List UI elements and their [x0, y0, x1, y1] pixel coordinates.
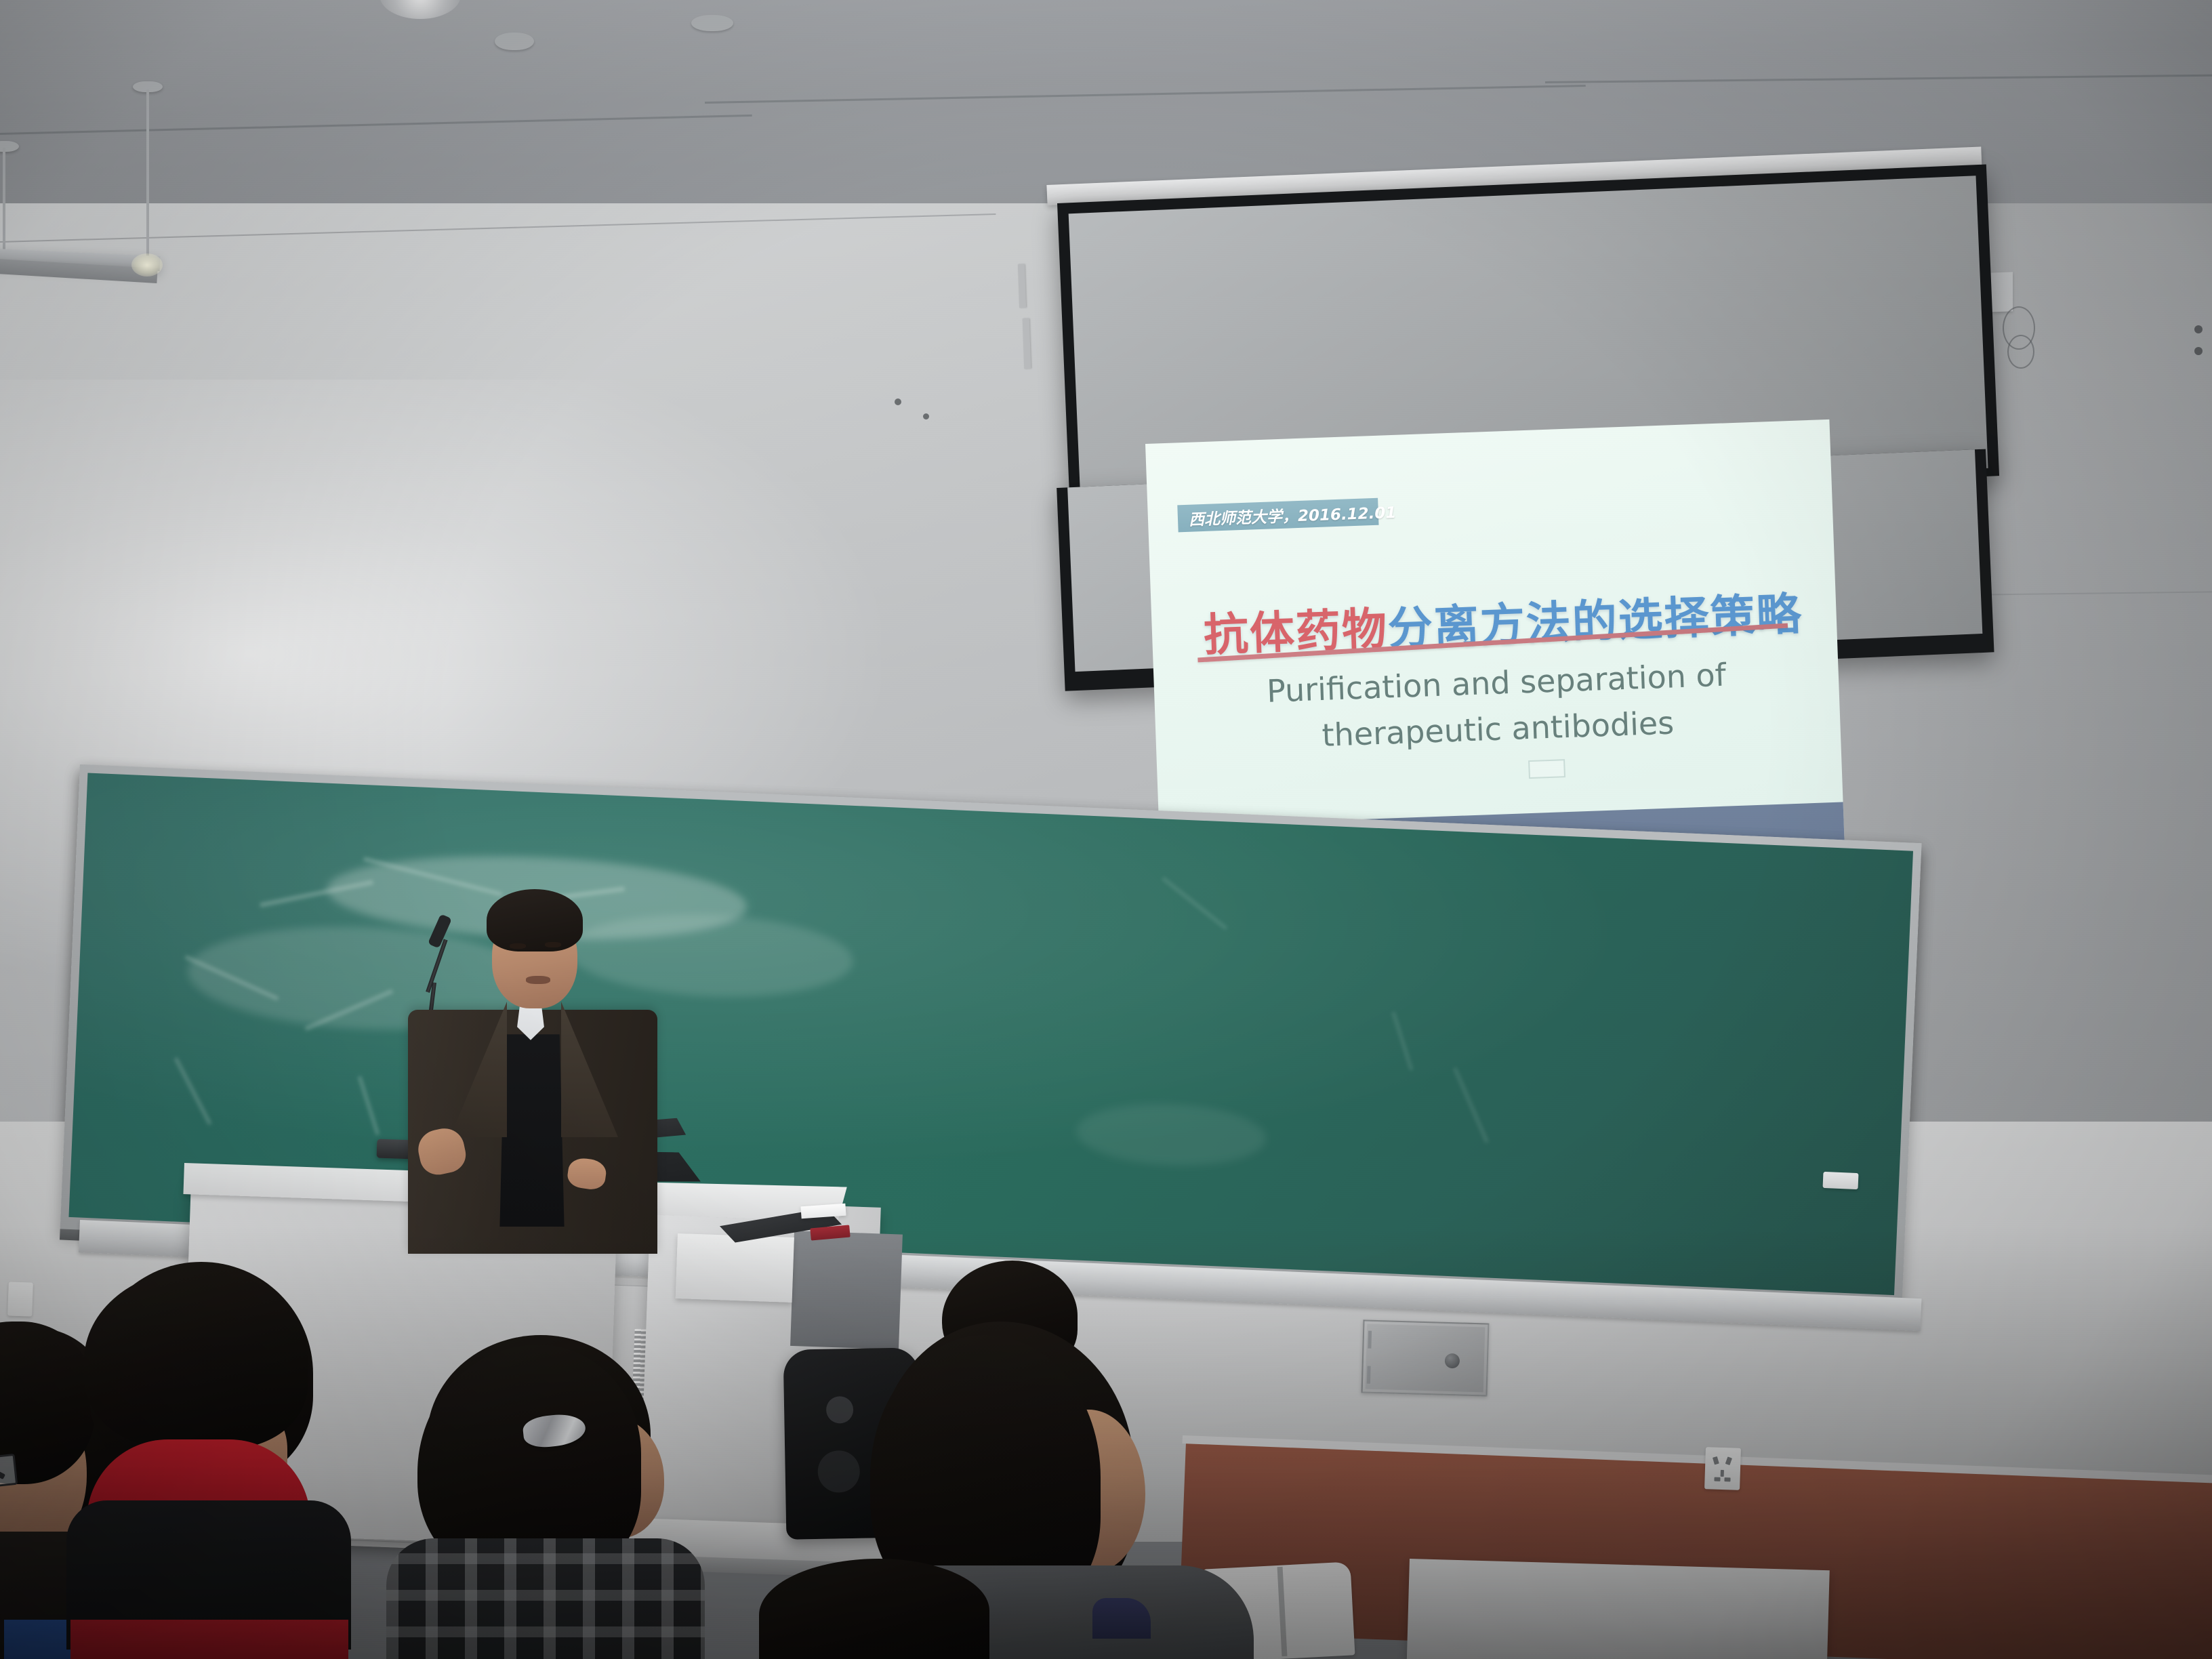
presenter-hair: [487, 889, 583, 951]
outlet-slot: [1725, 1456, 1732, 1465]
light-bulb-glow: [131, 253, 163, 276]
smoke-detector: [691, 15, 733, 31]
audience-plaid-jacket: [386, 1538, 705, 1659]
panel-lock-knob[interactable]: [1445, 1353, 1460, 1369]
presenter-mouth: [526, 976, 550, 984]
presenter-eye-left: [510, 943, 526, 949]
slide-header-text: 西北师范大学，2016.12.01: [1188, 499, 1397, 530]
slide-placeholder-box: [1528, 759, 1565, 779]
slide-subtitle-line2: therapeutic antibodies: [1230, 701, 1766, 757]
student-desk-right[interactable]: [1407, 1559, 1830, 1659]
audience-hair-front: [84, 1269, 308, 1449]
presenter-eye-right: [545, 942, 561, 947]
projected-slide: 西北师范大学，2016.12.01 抗体药物分离方法的选择策略 Purifica…: [1145, 419, 1845, 871]
chalk-streak: [1391, 1012, 1413, 1071]
audience-member-hairclip: [400, 1335, 725, 1659]
chalk-streak: [1162, 877, 1227, 930]
wall-screw: [895, 398, 901, 405]
audience-member-red-jacket: [57, 1262, 396, 1659]
glasses-lens: [0, 1454, 18, 1489]
outlet-slot: [1714, 1477, 1720, 1481]
panel-hinge: [1368, 1331, 1372, 1349]
lecture-hall-photo: Redleaf 西北师范大学，2016.12.01 抗体药物分离方法的选择策略: [0, 0, 2212, 1659]
audience-jacket-shoulder-right: [1092, 1598, 1151, 1639]
slide-header-banner: 西北师范大学，2016.12.01: [1177, 498, 1378, 533]
slide-title: 抗体药物分离方法的选择策略: [1202, 578, 1803, 665]
power-outlet-far-left[interactable]: [7, 1282, 33, 1316]
outlet-slot: [1713, 1456, 1719, 1465]
wall-access-panel[interactable]: [1361, 1319, 1490, 1396]
audience-red-jacket-lower: [70, 1620, 348, 1659]
audience-member-partial: [759, 1559, 989, 1659]
outlet-slot: [1724, 1477, 1730, 1481]
light-rod: [146, 89, 149, 259]
chalkboard-eraser-front[interactable]: [1823, 1172, 1859, 1189]
presenter: [400, 867, 684, 1247]
wall-anchor-screw: [2194, 347, 2203, 355]
wall-anchor-screw: [2194, 325, 2203, 333]
screen-power-cable: [2007, 335, 2034, 369]
panel-hinge: [1367, 1366, 1371, 1384]
outlet-slot: [1721, 1470, 1724, 1477]
smoke-detector: [495, 33, 534, 50]
chalk-streak: [174, 1057, 211, 1125]
wall-screw: [923, 413, 929, 419]
slide-canvas: 西北师范大学，2016.12.01 抗体药物分离方法的选择策略 Purifica…: [1145, 419, 1845, 871]
power-outlet-right[interactable]: [1704, 1447, 1741, 1490]
audience-hair: [759, 1559, 989, 1659]
slide-subtitle-line1: Purification and separation of: [1228, 655, 1764, 711]
side-table-drawer[interactable]: [676, 1233, 794, 1303]
